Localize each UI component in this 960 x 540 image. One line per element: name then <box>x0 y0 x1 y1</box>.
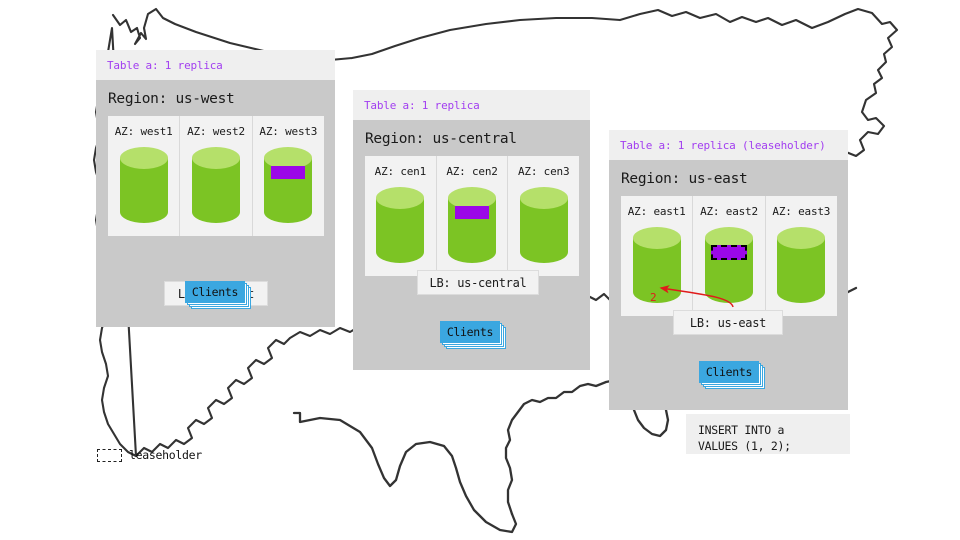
lb-label-us-central: LB: us-central <box>430 276 527 290</box>
az-label-west3: AZ: west3 <box>259 125 317 138</box>
cylinder-cen3 <box>518 186 570 270</box>
us-south-border-path <box>294 413 516 532</box>
cylinder-east1 <box>631 226 683 310</box>
cylinder-east2 <box>703 226 755 310</box>
az-cell-cen3[interactable]: AZ: cen3 <box>508 156 579 276</box>
sql-line-1: INSERT INTO a <box>698 422 850 438</box>
clients-label-us-west[interactable]: Clients <box>185 281 245 303</box>
az-label-cen2: AZ: cen2 <box>446 165 497 178</box>
az-cell-west3[interactable]: AZ: west3 <box>253 116 324 236</box>
clients-button-us-west[interactable]: Clients <box>185 281 249 305</box>
replica-bar-east2-leaseholder <box>711 245 747 260</box>
clients-label-us-central[interactable]: Clients <box>440 321 500 343</box>
panel-header-us-east: Table a: 1 replica (leaseholder) <box>609 130 848 160</box>
az-label-west1: AZ: west1 <box>115 125 173 138</box>
sql-statement-box: INSERT INTO a VALUES (1, 2); <box>686 414 850 454</box>
region-title-us-east: Region: us-east <box>609 160 848 187</box>
clients-button-us-east[interactable]: Clients <box>699 361 763 385</box>
legend: leaseholder <box>97 448 202 462</box>
az-cell-east3[interactable]: AZ: east3 <box>766 196 837 316</box>
sql-line-2: VALUES (1, 2); <box>698 438 850 454</box>
az-row-us-west: AZ: west1 AZ: west2 AZ: west3 <box>108 116 324 236</box>
region-panel-us-east[interactable]: Table a: 1 replica (leaseholder) Region:… <box>609 130 848 410</box>
cylinder-west1 <box>118 146 170 230</box>
panel-header-us-central: Table a: 1 replica <box>353 90 590 120</box>
cylinder-cen2 <box>446 186 498 270</box>
az-cell-cen1[interactable]: AZ: cen1 <box>365 156 437 276</box>
clients-label-us-east[interactable]: Clients <box>699 361 759 383</box>
replica-bar-cen2 <box>455 206 489 219</box>
az-label-east3: AZ: east3 <box>772 205 830 218</box>
az-cell-cen2[interactable]: AZ: cen2 <box>437 156 509 276</box>
cylinder-west3 <box>262 146 314 230</box>
az-label-east2: AZ: east2 <box>700 205 758 218</box>
panel-header-us-west: Table a: 1 replica <box>96 50 335 80</box>
lb-box-us-east[interactable]: LB: us-east <box>673 310 783 335</box>
lb-box-us-central[interactable]: LB: us-central <box>417 270 539 295</box>
cylinder-east3 <box>775 226 827 310</box>
az-label-east1: AZ: east1 <box>628 205 686 218</box>
cylinder-west2 <box>190 146 242 230</box>
lb-label-us-east: LB: us-east <box>690 316 766 330</box>
az-label-cen3: AZ: cen3 <box>518 165 569 178</box>
az-label-cen1: AZ: cen1 <box>375 165 426 178</box>
arrow-step-label: 2 <box>650 291 657 304</box>
cylinder-cen1 <box>374 186 426 270</box>
az-cell-east1[interactable]: AZ: east1 <box>621 196 693 316</box>
clients-button-us-central[interactable]: Clients <box>440 321 504 345</box>
replica-bar-west3 <box>271 166 305 179</box>
region-title-us-central: Region: us-central <box>353 120 590 147</box>
region-panel-us-central[interactable]: Table a: 1 replica Region: us-central AZ… <box>353 90 590 370</box>
region-title-us-west: Region: us-west <box>96 80 335 107</box>
legend-label: leaseholder <box>129 448 202 462</box>
az-cell-west2[interactable]: AZ: west2 <box>180 116 252 236</box>
az-label-west2: AZ: west2 <box>187 125 245 138</box>
dashed-rectangle-icon <box>97 449 122 462</box>
az-row-us-central: AZ: cen1 AZ: cen2 AZ: cen3 <box>365 156 579 276</box>
az-cell-east2[interactable]: AZ: east2 <box>693 196 765 316</box>
az-cell-west1[interactable]: AZ: west1 <box>108 116 180 236</box>
region-panel-us-west[interactable]: Table a: 1 replica Region: us-west AZ: w… <box>96 50 335 327</box>
